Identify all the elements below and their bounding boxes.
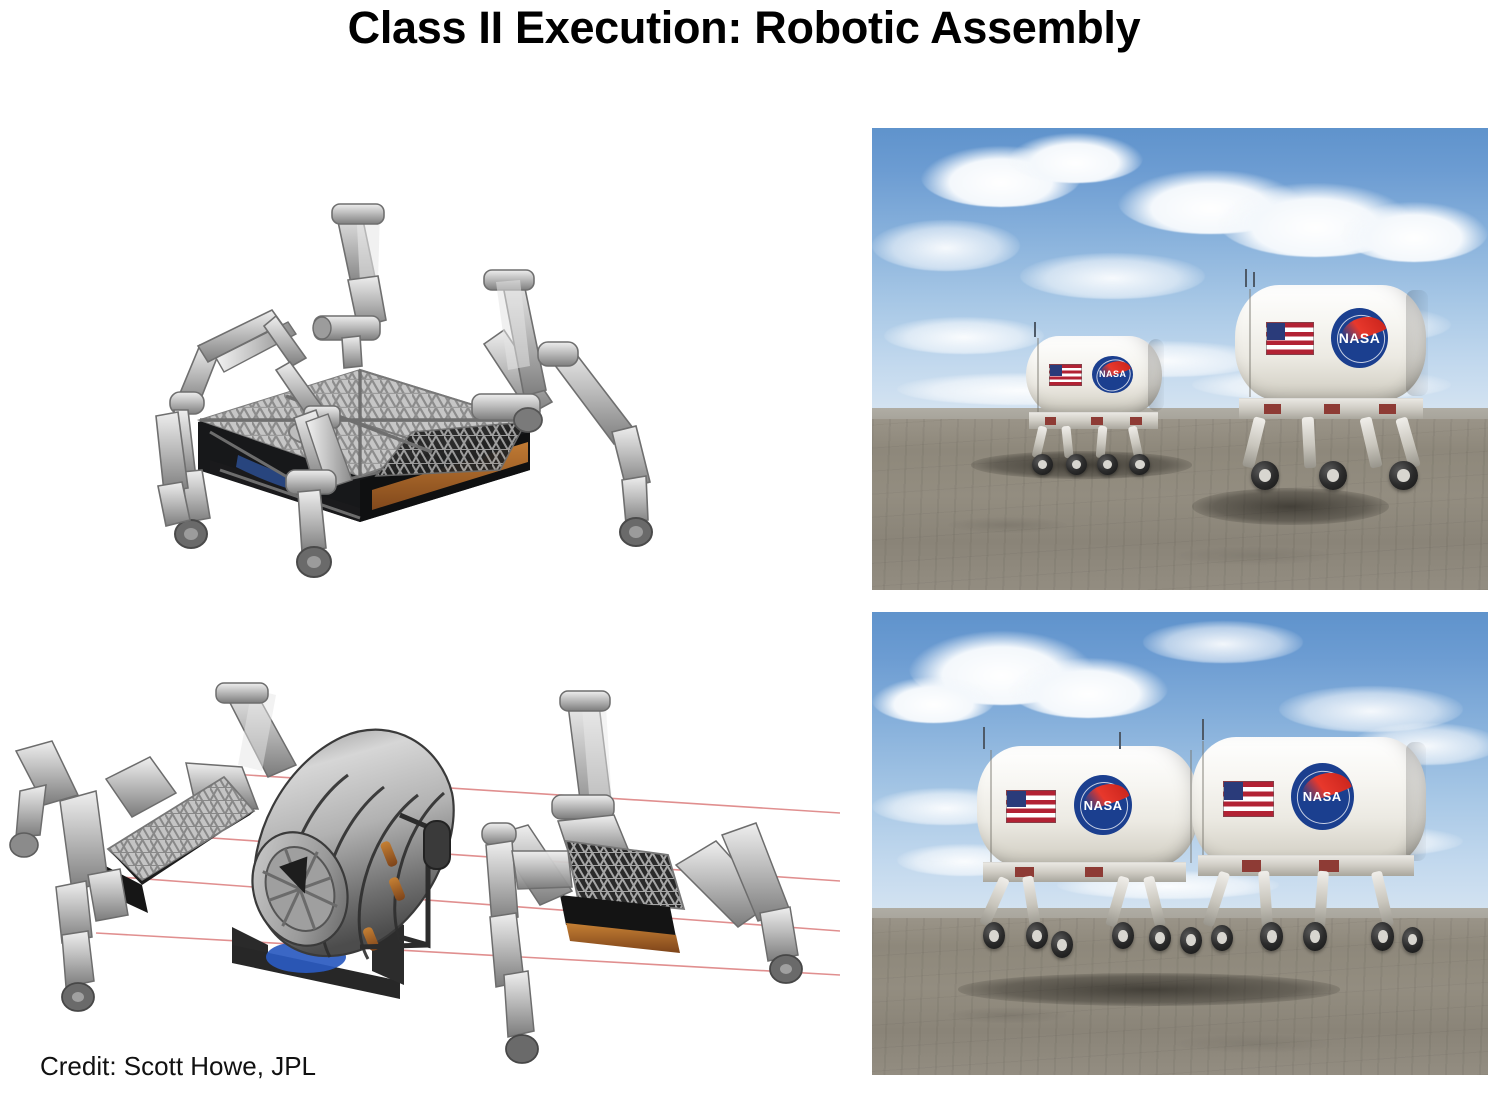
flag-canton: [1224, 782, 1244, 800]
rover-wheel: [1026, 922, 1048, 949]
module-end-cap: [1406, 290, 1428, 396]
credit-label: Credit: Scott Howe, JPL: [40, 1051, 316, 1082]
us-flag-decal: [1006, 790, 1057, 823]
robot-leg: [313, 204, 386, 368]
nasa-wordmark: NASA: [1303, 789, 1342, 804]
module-assembly-svg: [0, 645, 840, 1065]
flag-canton: [1050, 365, 1062, 376]
antenna: [1034, 322, 1036, 338]
robot-leg: [538, 342, 652, 546]
rover-wheel: [1389, 461, 1417, 491]
ground-texture: [872, 419, 1488, 590]
rover-wheel: [1051, 931, 1073, 958]
rover-wheel: [1032, 454, 1053, 475]
nasa-logo: NASA: [1291, 763, 1354, 830]
us-flag-decal: [1049, 364, 1082, 386]
module-rib: [1202, 741, 1204, 863]
module-rib: [990, 750, 992, 863]
rover-chassis: [1239, 398, 1424, 418]
desert-ground: [872, 419, 1488, 590]
nasa-wordmark: NASA: [1084, 798, 1123, 813]
flag-canton: [1007, 791, 1027, 808]
cloud: [872, 677, 995, 723]
cloud: [1008, 133, 1144, 184]
module-end-cap: [1406, 742, 1426, 861]
habitat-module: NASA: [1026, 336, 1162, 415]
antenna: [1202, 719, 1204, 740]
rover-wheel: [1180, 927, 1202, 954]
right-hexapod-robot: [482, 691, 802, 1063]
habitat-module: NASA: [1235, 285, 1426, 401]
rover-wheel: [1097, 454, 1118, 475]
rover-wheel: [1371, 922, 1394, 951]
cloud: [1008, 658, 1168, 718]
module-shadow: [958, 973, 1340, 1005]
nasa-logo: NASA: [1331, 308, 1388, 368]
us-flag-decal: [1223, 781, 1274, 817]
chassis-port: [1091, 417, 1103, 426]
page-title: Class II Execution: Robotic Assembly: [0, 2, 1488, 54]
hexapod-deck-svg: [60, 170, 660, 590]
nasa-logo: NASA: [1092, 356, 1133, 394]
habitat-module: NASA: [1192, 737, 1426, 867]
nasa-wordmark: NASA: [1099, 369, 1127, 379]
desert-rovers-apart-photo: NASA NASA: [872, 128, 1488, 590]
rover-wheel: [1066, 454, 1087, 475]
nasa-wordmark: NASA: [1339, 330, 1381, 346]
antenna: [1253, 272, 1255, 287]
module-end-cap: [1148, 339, 1164, 411]
us-flag-decal: [1266, 322, 1314, 355]
rover-chassis: [983, 862, 1186, 882]
desert-rovers-docked-photo: NASA NASA: [872, 612, 1488, 1075]
chassis-port: [1242, 860, 1261, 871]
antenna: [1245, 269, 1247, 287]
rover-wheel: [1211, 925, 1233, 952]
flag-canton: [1267, 323, 1285, 340]
chassis-port: [1264, 404, 1281, 415]
module-rib: [1249, 289, 1251, 398]
chassis-port: [1130, 417, 1142, 426]
chassis-port: [1085, 867, 1103, 877]
rover-wheel: [1251, 461, 1279, 491]
module-rib: [1037, 338, 1039, 412]
chassis-port: [1319, 860, 1338, 871]
module-assembly-render: [0, 645, 840, 1065]
rover-chassis: [1029, 412, 1158, 429]
cloud: [872, 220, 1020, 271]
chassis-port: [1379, 404, 1396, 415]
rover-wheel: [983, 922, 1005, 949]
chassis-port: [1324, 404, 1341, 415]
cloud: [1020, 253, 1205, 299]
cloud: [1340, 202, 1488, 262]
cloud: [1143, 621, 1303, 663]
rover-wheel: [1319, 461, 1347, 491]
antenna: [1119, 732, 1121, 749]
habitat-module: NASA: [977, 746, 1199, 866]
hexapod-deck-render: [60, 170, 660, 590]
chassis-port: [1045, 417, 1057, 426]
rover-wheel: [1303, 922, 1326, 951]
antenna: [983, 727, 985, 749]
nasa-logo: NASA: [1074, 775, 1132, 835]
rover-wheel: [1402, 927, 1423, 953]
